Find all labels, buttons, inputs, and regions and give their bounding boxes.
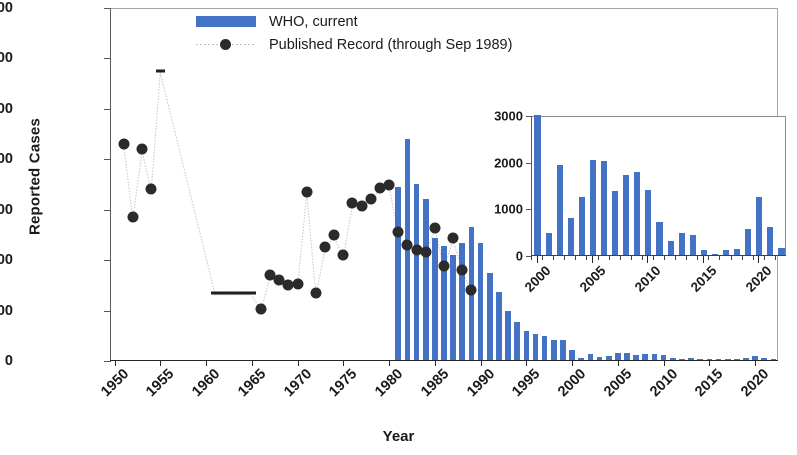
x-tick-label: 1975 <box>327 366 361 400</box>
inset-x-tick-mark <box>653 256 654 260</box>
x-tick-mark <box>389 360 390 366</box>
data-point <box>118 138 129 149</box>
bar <box>624 353 630 360</box>
inset-y-tick-mark <box>526 116 532 117</box>
x-tick-mark <box>572 360 573 366</box>
bar <box>560 340 566 360</box>
bar <box>551 340 557 361</box>
y-tick-mark <box>104 361 111 362</box>
data-point <box>137 144 148 155</box>
data-point <box>127 211 138 222</box>
y-tick-label: 60 000 <box>0 151 13 167</box>
data-point <box>439 261 450 272</box>
y-tick-mark <box>104 8 111 9</box>
x-tick-mark <box>709 360 710 366</box>
x-tick-label: 1950 <box>98 366 132 400</box>
x-tick-label: 2020 <box>738 366 772 400</box>
x-tick-mark <box>664 360 665 366</box>
bar <box>533 334 539 360</box>
x-tick-mark <box>435 360 436 366</box>
inset-bar <box>745 229 751 255</box>
inset-bar <box>645 190 651 255</box>
y-axis-title: Reported Cases <box>27 87 44 267</box>
inset-x-tick-mark <box>531 256 532 260</box>
inset-x-tick-mark <box>598 256 599 260</box>
inset-bar <box>601 161 607 255</box>
inset-y-tick-label: 1000 <box>453 202 523 217</box>
x-tick-mark <box>526 360 527 366</box>
inset-bar <box>568 218 574 255</box>
inset-bar <box>690 235 696 255</box>
inset-x-tick-mark <box>642 256 643 260</box>
bar <box>496 292 502 360</box>
inset-x-tick-mark <box>742 256 743 260</box>
inset-x-tick-mark <box>609 256 610 260</box>
x-tick-label: 1995 <box>510 366 544 400</box>
plateau-segment <box>156 69 165 72</box>
data-point <box>384 179 395 190</box>
y-tick-mark <box>104 109 111 110</box>
inset-x-tick-mark <box>586 256 587 260</box>
inset-x-tick-mark <box>631 256 632 260</box>
x-tick-mark <box>618 360 619 366</box>
data-point <box>310 288 321 299</box>
x-tick-label: 2010 <box>647 366 681 400</box>
inset-x-tick-mark <box>553 256 554 260</box>
inset-x-tick-mark <box>764 256 765 260</box>
plateau-segment <box>211 291 257 294</box>
inset-x-tick-mark <box>697 256 698 260</box>
inset-bar <box>767 227 773 255</box>
legend-label-published-record: Published Record (through Sep 1989) <box>269 37 512 53</box>
inset-x-tick-mark-major <box>703 256 704 263</box>
data-point <box>429 222 440 233</box>
x-tick-label: 1955 <box>144 366 178 400</box>
legend-item-published-record: Published Record (through Sep 1989) <box>196 33 512 56</box>
inset-x-tick-mark-major <box>592 256 593 263</box>
x-tick-mark <box>755 360 756 366</box>
inset-y-tick-label: 0 <box>453 249 523 264</box>
x-tick-mark <box>343 360 344 366</box>
data-point <box>466 285 477 296</box>
y-axis-line <box>110 8 111 361</box>
inset-y-tick-mark <box>526 209 532 210</box>
inset-bar <box>534 115 540 255</box>
inset-x-axis-line <box>531 255 786 256</box>
inset-y-tick-label: 3000 <box>453 109 523 124</box>
inset-bar <box>579 197 585 255</box>
y-tick-label: 45 000 <box>0 202 13 218</box>
data-point <box>365 193 376 204</box>
bar <box>487 273 493 360</box>
y-tick-label: 105 000 <box>0 0 13 16</box>
data-point <box>329 229 340 240</box>
data-point <box>320 242 331 253</box>
y-tick-mark <box>104 311 111 312</box>
inset-x-tick-mark <box>708 256 709 260</box>
legend: WHO, current Published Record (through S… <box>196 10 512 56</box>
inset-bar <box>756 197 762 255</box>
chart-root: Reported Cases 015 00030 00045 00060 000… <box>0 0 797 455</box>
x-tick-label: 2015 <box>693 366 727 400</box>
bar <box>505 311 511 360</box>
bar <box>450 255 456 360</box>
bar <box>395 187 401 360</box>
inset-y-tick-mark <box>526 163 532 164</box>
inset-x-tick-mark-major <box>758 256 759 263</box>
inset-x-tick-mark <box>686 256 687 260</box>
data-point <box>255 303 266 314</box>
bar <box>514 322 520 360</box>
y-tick-label: 15 000 <box>0 303 13 319</box>
inset-x-tick-mark <box>542 256 543 260</box>
x-tick-mark <box>252 360 253 366</box>
bar <box>615 353 621 360</box>
data-point <box>457 264 468 275</box>
legend-bar-swatch-icon <box>196 16 256 27</box>
x-tick-label: 2000 <box>555 366 589 400</box>
inset-y-axis-line <box>531 116 532 256</box>
legend-dot-icon <box>220 39 231 50</box>
y-tick-mark <box>104 159 111 160</box>
legend-label-who: WHO, current <box>269 14 358 30</box>
inset-bar <box>557 165 563 255</box>
bar <box>524 331 530 360</box>
x-axis-title: Year <box>0 428 797 445</box>
inset-bar <box>590 160 596 255</box>
inset-bar <box>612 191 618 255</box>
bar <box>414 184 420 360</box>
inset-x-tick-mark-major <box>537 256 538 263</box>
inset-bar <box>623 175 629 255</box>
inset-bar <box>634 172 640 255</box>
x-tick-label: 1980 <box>372 366 406 400</box>
inset-x-tick-mark <box>675 256 676 260</box>
x-tick-label: 1985 <box>418 366 452 400</box>
x-tick-label: 1970 <box>281 366 315 400</box>
data-point <box>338 250 349 261</box>
bar <box>432 238 438 360</box>
inset-x-tick-mark-major <box>647 256 648 263</box>
bar <box>569 350 575 360</box>
inset-x-tick-mark <box>719 256 720 260</box>
inset-bar <box>546 233 552 255</box>
inset-x-tick-mark <box>775 256 776 260</box>
y-tick-label: 0 <box>0 353 13 369</box>
x-axis-line <box>110 360 778 361</box>
inset-x-tick-mark <box>753 256 754 260</box>
x-tick-mark <box>298 360 299 366</box>
y-tick-mark <box>104 210 111 211</box>
inset-x-tick-mark <box>575 256 576 260</box>
data-point <box>292 279 303 290</box>
x-tick-mark <box>115 360 116 366</box>
x-tick-mark <box>206 360 207 366</box>
inset-plot-area <box>531 116 786 256</box>
y-tick-label: 30 000 <box>0 252 13 268</box>
inset-x-tick-mark <box>731 256 732 260</box>
x-tick-label: 1960 <box>189 366 223 400</box>
bar <box>542 336 548 360</box>
x-tick-label: 1965 <box>235 366 269 400</box>
data-point <box>448 233 459 244</box>
x-tick-mark <box>481 360 482 366</box>
data-point <box>393 226 404 237</box>
legend-item-who: WHO, current <box>196 10 512 33</box>
y-tick-mark <box>104 260 111 261</box>
data-point <box>420 246 431 257</box>
y-tick-mark <box>104 58 111 59</box>
inset-bar <box>656 222 662 255</box>
inset-y-tick-label: 2000 <box>453 155 523 170</box>
x-tick-label: 1990 <box>464 366 498 400</box>
x-tick-label: 2005 <box>601 366 635 400</box>
inset-x-tick-mark <box>564 256 565 260</box>
inset-bar <box>679 233 685 255</box>
legend-line-swatch-icon <box>196 39 256 50</box>
data-point <box>146 183 157 194</box>
inset-x-tick-mark <box>664 256 665 260</box>
inset-bar <box>668 241 674 255</box>
x-tick-mark <box>160 360 161 366</box>
inset-x-tick-mark <box>620 256 621 260</box>
bar <box>423 199 429 360</box>
data-point <box>301 186 312 197</box>
y-tick-label: 75 000 <box>0 101 13 117</box>
y-tick-label: 90 000 <box>0 50 13 66</box>
